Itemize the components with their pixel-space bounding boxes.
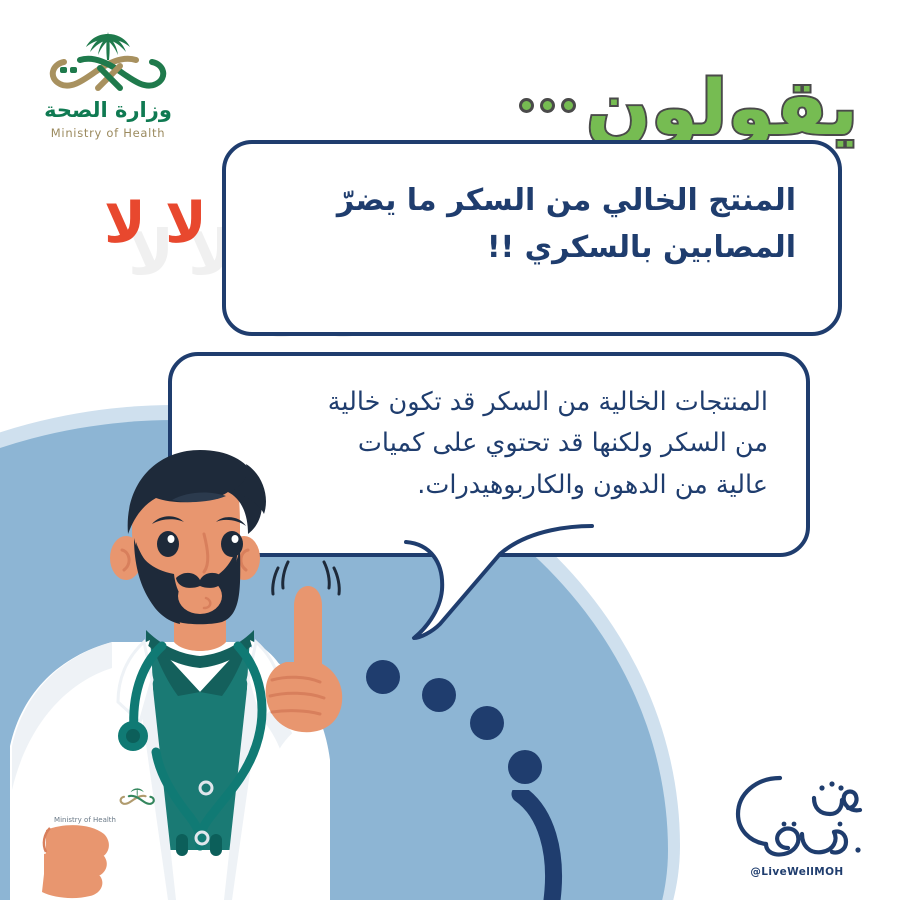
infographic-canvas: وزارة الصحة Ministry of Health لا لا لا … [0,0,900,900]
no-letter-red: لا [104,196,146,252]
ellipsis-dot [561,98,576,113]
ellipsis-dot [519,98,534,113]
svg-text:Ministry of Health: Ministry of Health [54,816,116,824]
claim-line-2: المصابين بالسكري !! [268,225,796,272]
fact-line-1: المنتجات الخالية من السكر قد تكون خالية [210,382,768,423]
claim-line-1: المنتج الخالي من السكر ما يضرّ [268,178,796,225]
speech-bubble-tail [380,520,600,660]
ministry-name-en: Ministry of Health [24,126,192,140]
ministry-name-ar: وزارة الصحة [24,100,192,121]
livewell-mark-icon [722,768,872,860]
accent-dot [422,678,456,712]
moh-emblem-icon [24,26,192,102]
campaign-handle: @LiveWellMOH [722,866,872,878]
accent-dot [508,750,542,784]
headline-text: يقولون [586,70,858,146]
headline-they-say: يقولون [519,70,858,146]
doctor-illustration: Ministry of Health [0,430,400,900]
no-letter-red: لا [165,196,207,252]
accent-dot [470,706,504,740]
livewell-campaign-logo: @LiveWellMOH [722,768,872,878]
ellipsis-dot [540,98,555,113]
headline-ellipsis [519,98,576,113]
accent-swoosh [500,790,620,900]
ministry-of-health-logo: وزارة الصحة Ministry of Health [24,26,192,144]
speech-bubble-claim: المنتج الخالي من السكر ما يضرّ المصابين … [222,140,842,336]
claim-text: المنتج الخالي من السكر ما يضرّ المصابين … [226,144,838,271]
